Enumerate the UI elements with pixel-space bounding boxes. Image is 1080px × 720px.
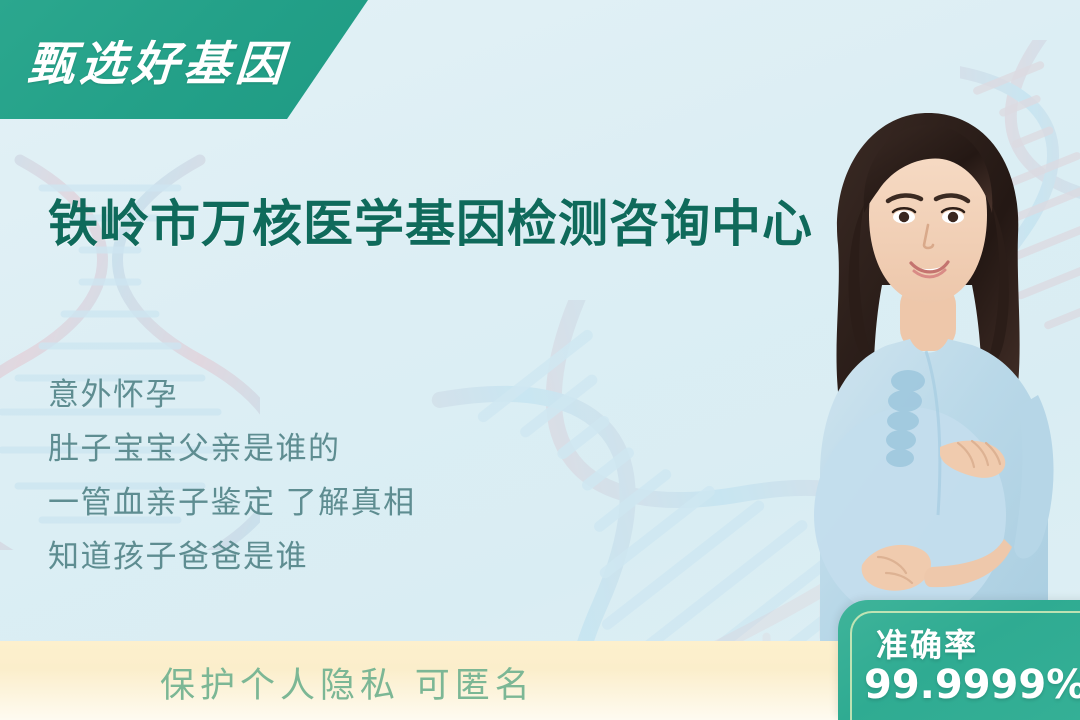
- body-copy: 意外怀孕 肚子宝宝父亲是谁的 一管血亲子鉴定 了解真相 知道孩子爸爸是谁: [48, 368, 416, 584]
- accuracy-badge: 准确率 99.9999%: [838, 600, 1080, 720]
- page-title: 铁岭市万核医学基因检测咨询中心: [48, 184, 813, 256]
- copy-line-3: 一管血亲子鉴定 了解真相: [48, 476, 416, 530]
- promotional-poster: 甄选好基因 铁岭市万核医学基因检测咨询中心 意外怀孕 肚子宝宝父亲是谁的 一管血…: [0, 0, 1080, 720]
- privacy-tagline: 保护个人隐私 可匿名: [160, 657, 535, 708]
- accuracy-badge-value: 99.9999%: [864, 662, 1080, 708]
- pregnant-woman-photo: [790, 95, 1080, 655]
- accuracy-badge-title: 准确率: [876, 620, 978, 666]
- copy-line-4: 知道孩子爸爸是谁: [48, 530, 416, 584]
- brand-banner: 甄选好基因: [0, 0, 368, 119]
- copy-line-1: 意外怀孕: [48, 368, 416, 422]
- copy-line-2: 肚子宝宝父亲是谁的: [48, 422, 416, 476]
- dna-helix-icon: [960, 40, 1080, 370]
- brand-logo-text: 甄选好基因: [26, 25, 291, 94]
